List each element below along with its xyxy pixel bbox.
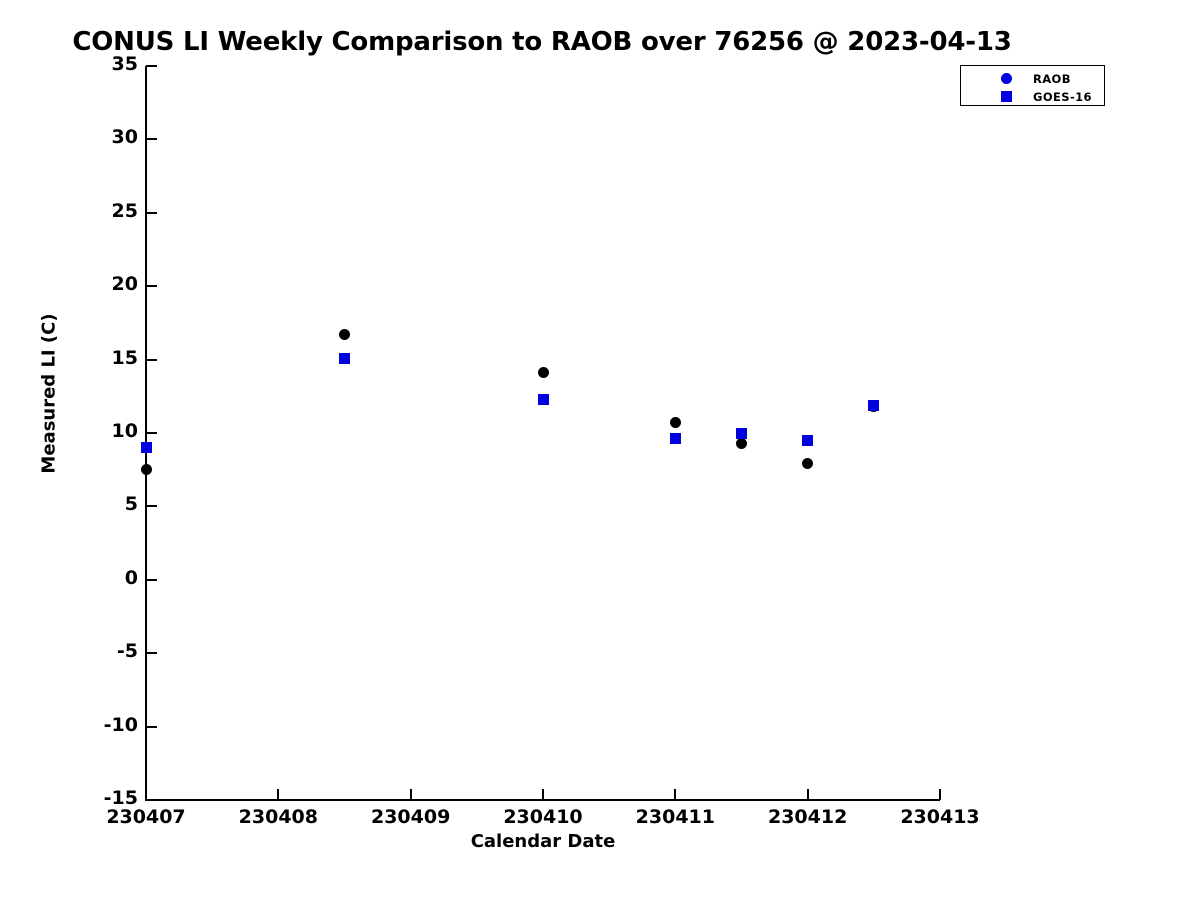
legend-circle-icon — [997, 70, 1019, 88]
y-tick-label: -5 — [76, 640, 138, 662]
legend-label: GOES-16 — [1033, 90, 1092, 104]
data-point-goes-16 — [141, 442, 152, 453]
data-point-raob — [670, 417, 681, 428]
data-point-raob — [736, 438, 747, 449]
data-point-goes-16 — [538, 394, 549, 405]
y-tick-label: 30 — [76, 126, 138, 148]
x-tick-label: 230413 — [860, 806, 1020, 828]
legend-entry-raob[interactable]: RAOB — [961, 70, 1104, 88]
y-tick-label: 5 — [76, 493, 138, 515]
data-point-goes-16 — [339, 353, 350, 364]
data-point-raob — [802, 458, 813, 469]
plot-area — [146, 66, 940, 800]
y-tick-label: 35 — [76, 53, 138, 75]
y-tick-label: 0 — [76, 567, 138, 589]
y-tick-label: 20 — [76, 273, 138, 295]
data-point-goes-16 — [670, 433, 681, 444]
chart-figure: CONUS LI Weekly Comparison to RAOB over … — [0, 0, 1200, 900]
y-tick-label: 10 — [76, 420, 138, 442]
x-axis-label: Calendar Date — [146, 831, 940, 852]
chart-title: CONUS LI Weekly Comparison to RAOB over … — [0, 27, 1084, 57]
data-point-raob — [141, 464, 152, 475]
chart-legend: RAOBGOES-16 — [960, 65, 1105, 106]
y-tick-label: 15 — [76, 347, 138, 369]
data-point-raob — [538, 367, 549, 378]
data-point-goes-16 — [736, 428, 747, 439]
legend-entry-goes-16[interactable]: GOES-16 — [961, 88, 1104, 106]
data-point-goes-16 — [868, 400, 879, 411]
y-tick-label: -10 — [76, 714, 138, 736]
legend-label: RAOB — [1033, 72, 1071, 86]
y-tick-label: 25 — [76, 200, 138, 222]
data-point-goes-16 — [802, 435, 813, 446]
legend-square-icon — [997, 88, 1019, 106]
data-point-raob — [868, 401, 879, 412]
y-axis-label: Measured LI (C) — [39, 294, 60, 494]
data-point-raob — [339, 329, 350, 340]
